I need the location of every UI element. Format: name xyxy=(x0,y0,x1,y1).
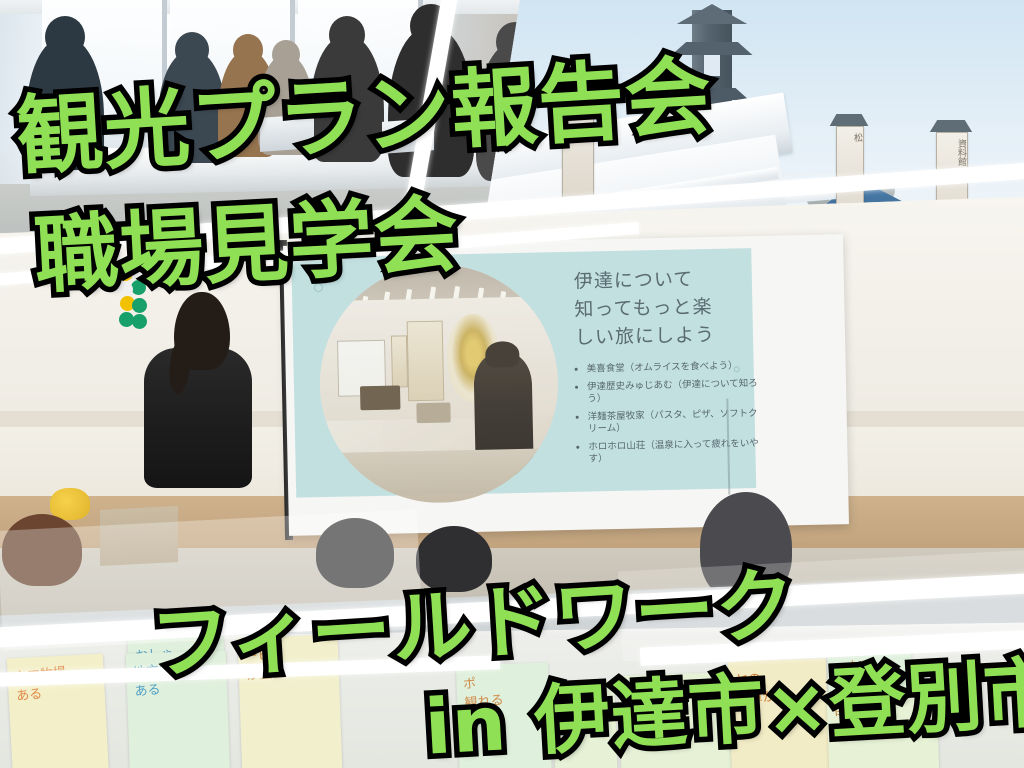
slide-bullet-list: 美喜食堂（オムライスを食べよう）伊達歴史みゅじあむ（伊達について知ろう）洋麺茶屋… xyxy=(576,360,763,472)
slide-photo-museum xyxy=(317,262,560,505)
slide-bullet-item: 美喜食堂（オムライスを食べよう） xyxy=(587,360,761,376)
slide-bullet-item: 伊達歴史みゅじあむ（伊達について知ろう） xyxy=(587,378,761,406)
plush-toy xyxy=(50,488,90,520)
headline-line-2: 職場見学会 xyxy=(31,167,462,310)
hanging-scroll xyxy=(407,321,445,402)
shop-banner-text: 松 xyxy=(837,133,863,142)
side-desk xyxy=(100,506,178,566)
audience-member xyxy=(2,514,82,586)
museum-floor xyxy=(321,448,560,505)
slide-bullet-item: ホロホロ山荘（温泉に入って疲れをいやす） xyxy=(588,438,762,466)
slide-title: 伊達について 知ってもっと楽 しい旅にしよう xyxy=(574,263,786,351)
presenter-hair xyxy=(174,292,230,370)
exhibit-object xyxy=(360,385,400,410)
shop-banner-text: 資料館 xyxy=(937,139,967,166)
hanging-scroll xyxy=(391,335,408,387)
slide-bullet-item: 洋麺茶屋牧家（パスタ、ピザ、ソフトクリーム） xyxy=(588,408,762,436)
pedestal xyxy=(416,402,450,423)
poster-canvas: 戸屋松資料館 xyxy=(0,0,1024,768)
person-head xyxy=(45,16,85,58)
presenter-person xyxy=(144,292,252,482)
